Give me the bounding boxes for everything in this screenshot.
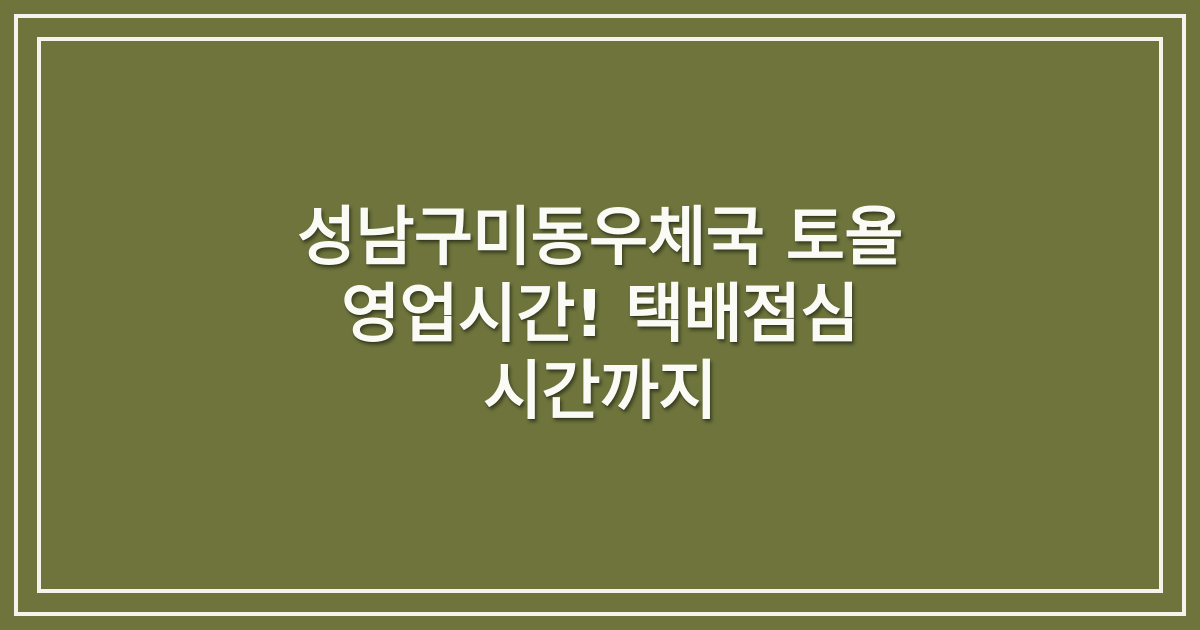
- title-line-3: 시간까지: [260, 354, 940, 431]
- title-line-1: 성남구미동우체국 토욜: [260, 200, 940, 277]
- title-line-2: 영업시간! 택배점심: [260, 277, 940, 354]
- thumbnail-card: 성남구미동우체국 토욜 영업시간! 택배점심 시간까지: [0, 0, 1200, 630]
- page-title: 성남구미동우체국 토욜 영업시간! 택배점심 시간까지: [250, 200, 950, 431]
